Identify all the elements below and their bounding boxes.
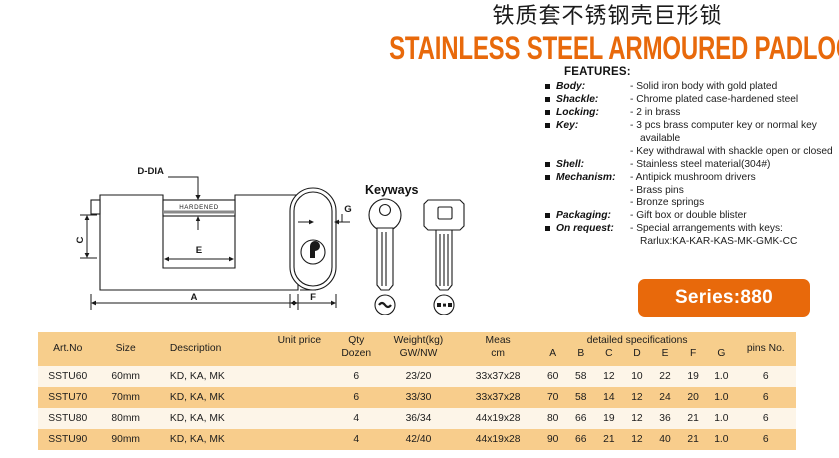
cell-qty: 4 [333, 408, 379, 429]
feature-row: - Bronze springs [542, 197, 839, 210]
th-weight-gwnw: GW/NW [379, 347, 457, 366]
th-unit-price-sub [265, 347, 333, 366]
feature-row: Mechanism:- Antipick mushroom drivers [542, 172, 839, 185]
th-spec-f: F [679, 347, 707, 366]
feature-row: Shackle:- Chrome plated case-hardened st… [542, 94, 839, 107]
feature-row: On request:- Special arrangements with k… [542, 223, 839, 236]
table-row: SSTU7070mmKD, KA, MK633/3033x37x28705814… [38, 387, 796, 408]
cell-g: 1.0 [707, 429, 735, 450]
cell-f: 21 [679, 408, 707, 429]
feature-value: - Gift box or double blister [630, 210, 839, 223]
cell-unit-price [265, 429, 333, 450]
bullet-square-icon [542, 120, 556, 133]
th-size: Size [97, 332, 153, 366]
cell-d: 12 [623, 408, 651, 429]
cell-art-no: SSTU90 [38, 429, 97, 450]
cell-c: 12 [595, 366, 623, 387]
features-list: Body:- Solid iron body with gold platedS… [542, 81, 839, 249]
cell-qty: 6 [333, 387, 379, 408]
cell-b: 66 [567, 408, 595, 429]
cell-d: 10 [623, 366, 651, 387]
feature-label: Shackle: [556, 94, 630, 107]
cell-weight: 23/20 [379, 366, 457, 387]
feature-row: Locking:- 2 in brass [542, 107, 839, 120]
cell-b: 58 [567, 366, 595, 387]
th-unit-price: Unit price [265, 332, 333, 347]
cell-b: 58 [567, 387, 595, 408]
th-spec-g: G [707, 347, 735, 366]
cell-size: 80mm [97, 408, 153, 429]
cell-e: 36 [651, 408, 679, 429]
th-spec-d: D [623, 347, 651, 366]
feature-value: - Chrome plated case-hardened steel [630, 94, 839, 107]
key-round-head [369, 199, 401, 290]
cell-pins: 6 [736, 408, 796, 429]
chinese-product-title: 铁质套不锈钢壳巨形锁 [380, 4, 835, 30]
cell-c: 19 [595, 408, 623, 429]
feature-label: Mechanism: [556, 172, 630, 185]
bullet-square-icon [542, 223, 556, 236]
cell-qty: 4 [333, 429, 379, 450]
feature-value: - Bronze springs [630, 197, 839, 210]
left-tab [91, 200, 100, 214]
cell-pins: 6 [736, 387, 796, 408]
cell-c: 14 [595, 387, 623, 408]
cell-pins: 6 [736, 429, 796, 450]
feature-value: available [630, 133, 839, 146]
cell-pins: 6 [736, 366, 796, 387]
feature-row: Key:- 3 pcs brass computer key or normal… [542, 120, 839, 133]
table-body: SSTU6060mmKD, KA, MK623/2033x37x28605812… [38, 366, 796, 450]
cell-e: 40 [651, 429, 679, 450]
cell-description: KD, KA, MK [154, 408, 266, 429]
cell-qty: 6 [333, 366, 379, 387]
features-section: FEATURES: Body:- Solid iron body with go… [542, 66, 839, 249]
padlock-technical-drawing: HARDENED D-DIA C E [60, 160, 480, 315]
feature-value: - 2 in brass [630, 107, 839, 120]
feature-label: On request: [556, 223, 630, 236]
cell-art-no: SSTU70 [38, 387, 97, 408]
feature-row: Rarlux:KA-KAR-KAS-MK-GMK-CC [542, 236, 839, 249]
padlock-side-view [290, 188, 336, 290]
bullet-square-icon [542, 107, 556, 120]
feature-label: Packaging: [556, 210, 630, 223]
th-pins-no: pins No. [736, 332, 796, 366]
cell-a: 70 [539, 387, 567, 408]
table-row: SSTU6060mmKD, KA, MK623/2033x37x28605812… [38, 366, 796, 387]
th-meas: Meas [458, 332, 539, 347]
a-dimension-label: A [191, 292, 198, 303]
cell-unit-price [265, 408, 333, 429]
cell-unit-price [265, 366, 333, 387]
cell-b: 66 [567, 429, 595, 450]
cell-e: 24 [651, 387, 679, 408]
hardened-label: HARDENED [179, 204, 219, 211]
bullet-square-icon [542, 210, 556, 223]
feature-value: Rarlux:KA-KAR-KAS-MK-GMK-CC [630, 236, 839, 249]
cell-a: 80 [539, 408, 567, 429]
bullet-square-icon [542, 159, 556, 172]
product-spec-sheet: 铁质套不锈钢壳巨形锁 STAINLESS STEEL ARMOURED PADL… [0, 0, 839, 458]
cell-description: KD, KA, MK [154, 387, 266, 408]
cell-weight: 33/30 [379, 387, 457, 408]
feature-label: Shell: [556, 159, 630, 172]
feature-value: - Stainless steel material(304#) [630, 159, 839, 172]
th-qty: Qty [333, 332, 379, 347]
feature-label: Body: [556, 81, 630, 94]
cell-f: 21 [679, 429, 707, 450]
cell-description: KD, KA, MK [154, 429, 266, 450]
feature-row: Packaging:- Gift box or double blister [542, 210, 839, 223]
c-dimension-label: C [75, 236, 86, 243]
cell-f: 20 [679, 387, 707, 408]
cell-size: 60mm [97, 366, 153, 387]
cell-size: 90mm [97, 429, 153, 450]
feature-value: - Solid iron body with gold plated [630, 81, 839, 94]
feature-label: Key: [556, 120, 630, 133]
feature-label: Locking: [556, 107, 630, 120]
cell-unit-price [265, 387, 333, 408]
key-computer [424, 200, 464, 290]
table-row: SSTU8080mmKD, KA, MK436/3444x19x28806619… [38, 408, 796, 429]
cell-art-no: SSTU60 [38, 366, 97, 387]
cell-meas: 44x19x28 [458, 429, 539, 450]
cell-a: 60 [539, 366, 567, 387]
cell-d: 12 [623, 429, 651, 450]
th-art-no: Art.No [38, 332, 97, 366]
cell-c: 21 [595, 429, 623, 450]
english-product-title: STAINLESS STEEL ARMOURED PADLOCK [389, 31, 826, 68]
cell-d: 12 [623, 387, 651, 408]
th-detailed-specifications: detailed specifications [539, 332, 736, 347]
bullet-square-icon [542, 94, 556, 107]
f-dimension-label: F [310, 292, 316, 303]
feature-row: Body:- Solid iron body with gold plated [542, 81, 839, 94]
cell-g: 1.0 [707, 366, 735, 387]
cell-art-no: SSTU80 [38, 408, 97, 429]
feature-row: - Brass pins [542, 185, 839, 198]
cell-meas: 33x37x28 [458, 387, 539, 408]
cell-g: 1.0 [707, 408, 735, 429]
cell-meas: 33x37x28 [458, 366, 539, 387]
th-spec-e: E [651, 347, 679, 366]
specifications-table: Art.No Size Description Unit price Qty W… [38, 332, 796, 450]
table-header: Art.No Size Description Unit price Qty W… [38, 332, 796, 366]
e-dimension-label: E [196, 245, 203, 256]
series-badge: Series:880 [638, 279, 810, 317]
th-spec-c: C [595, 347, 623, 366]
cell-g: 1.0 [707, 387, 735, 408]
feature-value: - Special arrangements with keys: [630, 223, 839, 236]
cell-e: 22 [651, 366, 679, 387]
table-row: SSTU9090mmKD, KA, MK442/4044x19x28906621… [38, 429, 796, 450]
feature-value: - Brass pins [630, 185, 839, 198]
d-dia-label: D-DIA [137, 166, 164, 177]
features-heading: FEATURES: [564, 66, 839, 78]
bullet-square-icon [542, 172, 556, 185]
th-weight: Weight(kg) [379, 332, 457, 347]
feature-row: available [542, 133, 839, 146]
cell-weight: 36/34 [379, 408, 457, 429]
cell-description: KD, KA, MK [154, 366, 266, 387]
feature-value: - Key withdrawal with shackle open or cl… [630, 146, 839, 159]
feature-row: - Key withdrawal with shackle open or cl… [542, 146, 839, 159]
feature-value: - 3 pcs brass computer key or normal key [630, 120, 839, 133]
th-spec-a: A [539, 347, 567, 366]
th-description: Description [154, 332, 266, 366]
cell-weight: 42/40 [379, 429, 457, 450]
feature-value: - Antipick mushroom drivers [630, 172, 839, 185]
th-spec-b: B [567, 347, 595, 366]
cell-a: 90 [539, 429, 567, 450]
cell-size: 70mm [97, 387, 153, 408]
th-qty-dozen: Dozen [333, 347, 379, 366]
g-dimension-label: G [344, 204, 351, 215]
cell-meas: 44x19x28 [458, 408, 539, 429]
cell-f: 19 [679, 366, 707, 387]
th-meas-cm: cm [458, 347, 539, 366]
feature-row: Shell:- Stainless steel material(304#) [542, 159, 839, 172]
bullet-square-icon [542, 81, 556, 94]
